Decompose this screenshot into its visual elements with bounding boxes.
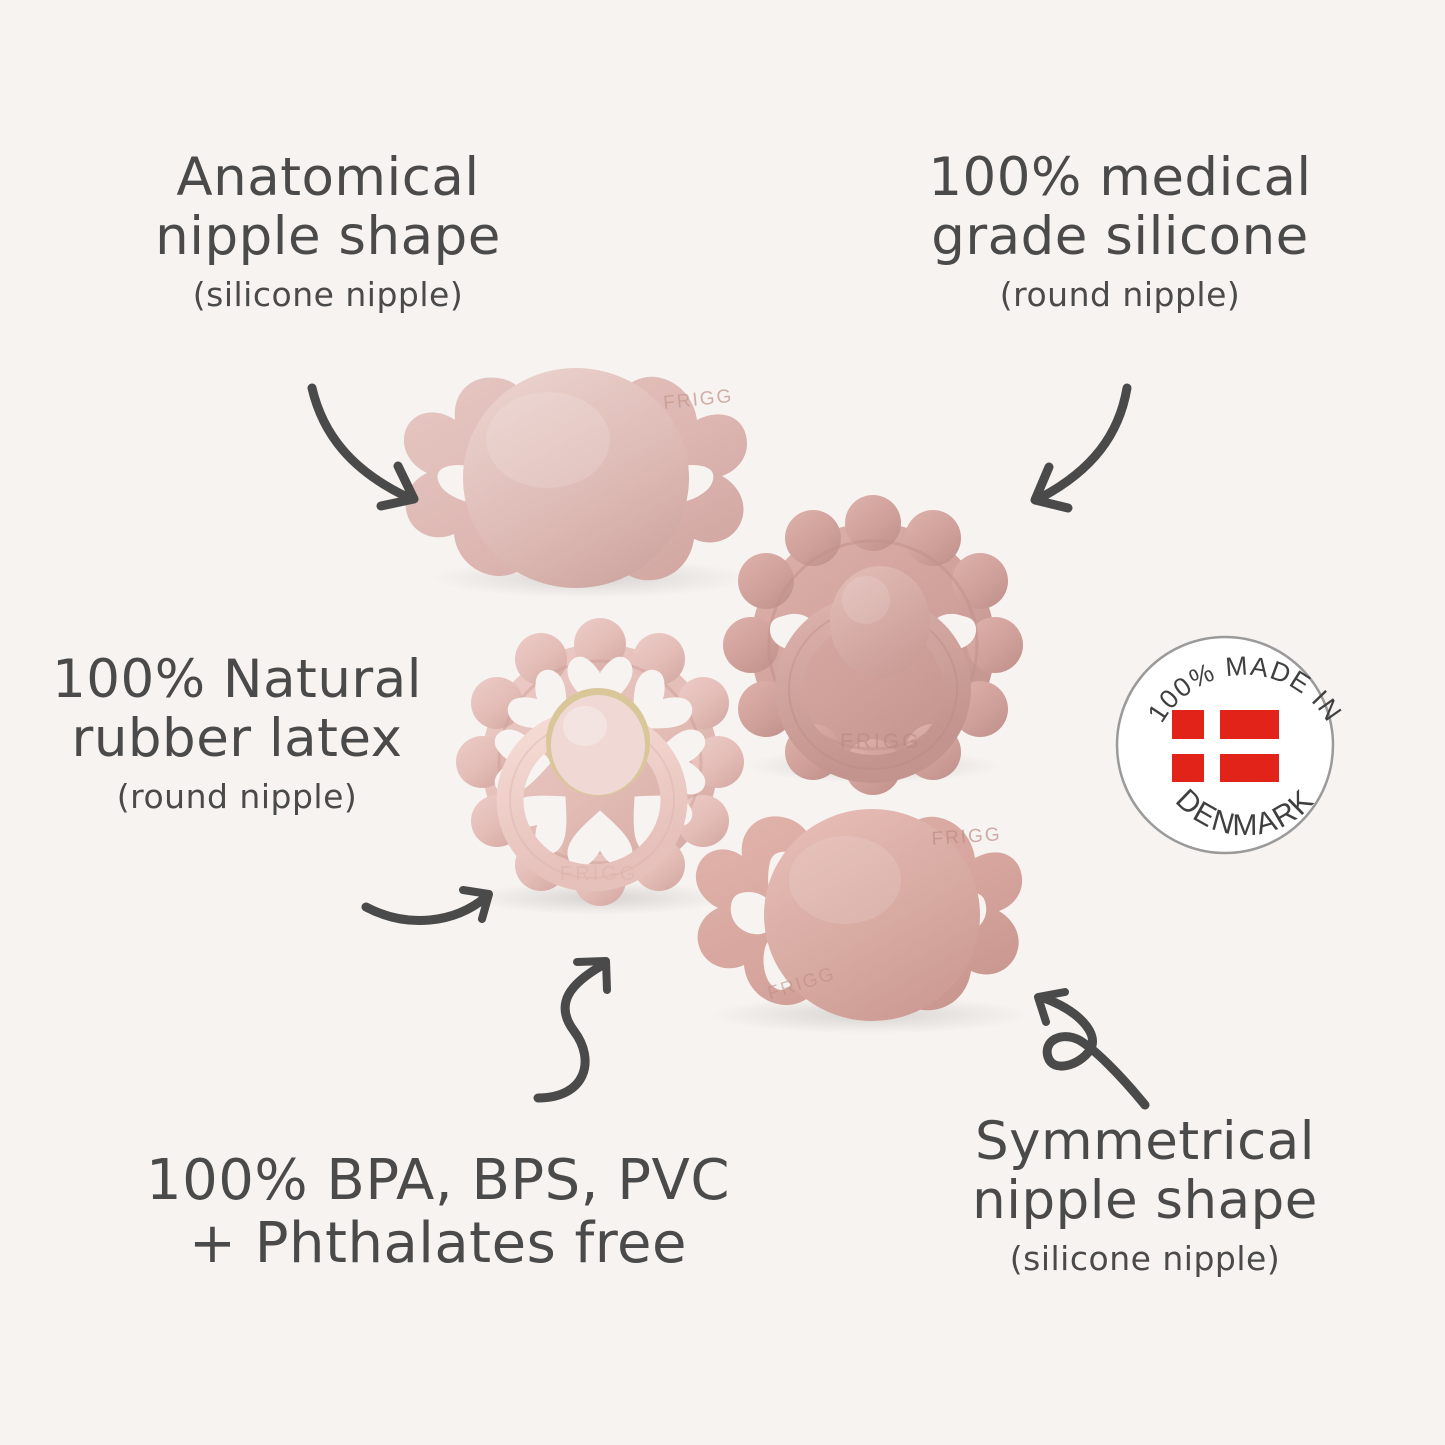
brand-emboss: FRIGG	[560, 863, 638, 885]
arrow-symmetrical	[1038, 992, 1145, 1105]
danish-flag-icon	[1172, 710, 1279, 782]
arrow-silicone	[1035, 388, 1127, 508]
brand-emboss: FRIGG	[840, 730, 922, 753]
product-daisy-round-silicone[interactable]: FRIGG	[723, 495, 1023, 795]
made-in-denmark-badge: 100% MADE IN DENMARK	[1117, 637, 1348, 853]
callout-bpa-free-title: 100% BPA, BPS, PVC + Phthalates free	[78, 1150, 798, 1275]
callout-natural-latex: 100% Natural rubber latex (round nipple)	[22, 650, 452, 816]
knob-highlight	[842, 576, 890, 624]
callout-symmetrical-title: Symmetrical nipple shape	[930, 1112, 1360, 1231]
callout-anatomical-title: Anatomical nipple shape	[118, 148, 538, 267]
product-butterfly-anatomical[interactable]: FRIGG	[404, 368, 750, 598]
callout-symmetrical-subtitle: (silicone nipple)	[930, 1241, 1360, 1278]
callout-anatomical: Anatomical nipple shape (silicone nipple…	[118, 148, 538, 314]
product-lily-symmetrical[interactable]: FRIGG FRIGG	[696, 809, 1030, 1034]
arrow-bpa	[538, 961, 607, 1098]
arrow-anatomical	[312, 388, 414, 506]
callout-bpa-free: 100% BPA, BPS, PVC + Phthalates free	[78, 1150, 798, 1275]
arrow-latex	[366, 890, 489, 920]
callout-natural-latex-title: 100% Natural rubber latex	[22, 650, 452, 769]
callout-anatomical-subtitle: (silicone nipple)	[118, 277, 538, 314]
callout-medical-silicone-subtitle: (round nipple)	[900, 277, 1340, 314]
callout-symmetrical: Symmetrical nipple shape (silicone nippl…	[930, 1112, 1360, 1278]
knob-highlight	[486, 392, 610, 488]
callout-medical-silicone-title: 100% medical grade silicone	[900, 148, 1340, 267]
infographic-canvas: FRIGG	[0, 0, 1445, 1445]
callout-medical-silicone: 100% medical grade silicone (round nippl…	[900, 148, 1340, 314]
callout-natural-latex-subtitle: (round nipple)	[22, 779, 452, 816]
knob-highlight	[789, 836, 901, 924]
knob-highlight	[563, 706, 607, 746]
brand-emboss: FRIGG	[931, 824, 1002, 850]
